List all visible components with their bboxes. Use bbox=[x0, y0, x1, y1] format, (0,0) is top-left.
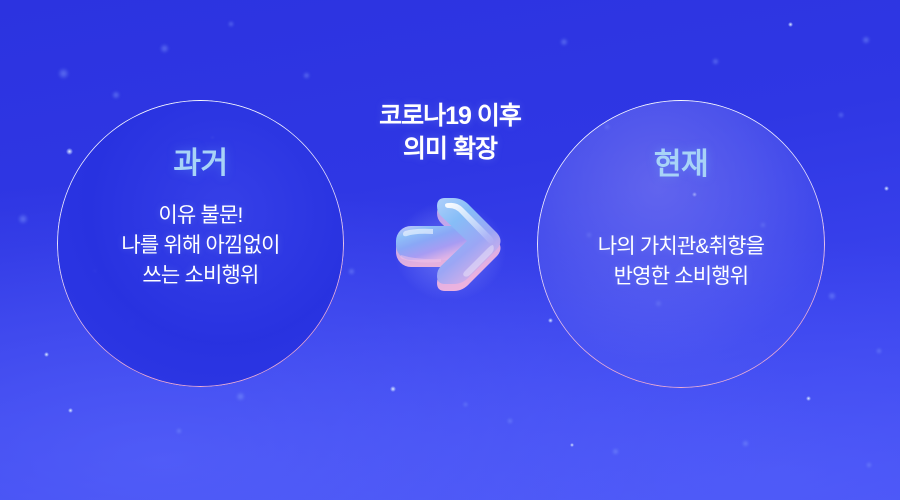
circle-present: 현재 나의 가치관&취향을 반영한 소비행위 bbox=[537, 100, 825, 388]
bokeh-particle bbox=[348, 268, 355, 275]
bokeh-particle bbox=[390, 386, 396, 392]
circle-present-body: 나의 가치관&취향을 반영한 소비행위 bbox=[598, 232, 764, 292]
bokeh-particle bbox=[828, 292, 836, 300]
bokeh-particle bbox=[862, 36, 870, 44]
bokeh-particle bbox=[68, 408, 73, 413]
bokeh-particle bbox=[866, 462, 872, 468]
bokeh-particle bbox=[806, 396, 811, 401]
bokeh-particle bbox=[507, 418, 513, 424]
bokeh-particle bbox=[876, 348, 882, 354]
circle-past-title: 과거 bbox=[173, 149, 227, 179]
bokeh-particle bbox=[570, 443, 574, 447]
bokeh-particle bbox=[612, 448, 619, 455]
bokeh-particle bbox=[788, 22, 793, 27]
circle-past-body: 이유 불문! 나를 위해 아낌없이 쓰는 소비행위 bbox=[121, 201, 279, 290]
bokeh-particle bbox=[884, 186, 889, 191]
arrow-right-3d-icon bbox=[393, 193, 507, 303]
center-caption: 코로나19 이후 의미 확장 bbox=[360, 100, 540, 166]
bokeh-particle bbox=[176, 428, 182, 434]
bokeh-particle bbox=[560, 38, 568, 46]
infographic-canvas: 과거 이유 불문! 나를 위해 아낌없이 쓰는 소비행위 코로나19 이후 의미… bbox=[0, 0, 900, 500]
bokeh-particle bbox=[18, 214, 28, 224]
bokeh-particle bbox=[838, 112, 844, 118]
circle-past: 과거 이유 불문! 나를 위해 아낌없이 쓰는 소비행위 bbox=[57, 100, 344, 387]
bokeh-particle bbox=[463, 402, 468, 407]
bokeh-particle bbox=[742, 440, 749, 447]
bokeh-particle bbox=[228, 21, 234, 27]
bokeh-particle bbox=[712, 58, 719, 65]
bokeh-particle bbox=[160, 44, 169, 53]
bokeh-particle bbox=[66, 148, 73, 155]
bokeh-particle bbox=[44, 352, 49, 357]
circle-present-title: 현재 bbox=[654, 150, 708, 180]
bokeh-particle bbox=[58, 68, 69, 79]
bokeh-particle bbox=[548, 318, 553, 323]
bokeh-particle bbox=[236, 392, 245, 401]
bokeh-particle bbox=[112, 91, 120, 99]
bokeh-particle bbox=[303, 72, 310, 79]
